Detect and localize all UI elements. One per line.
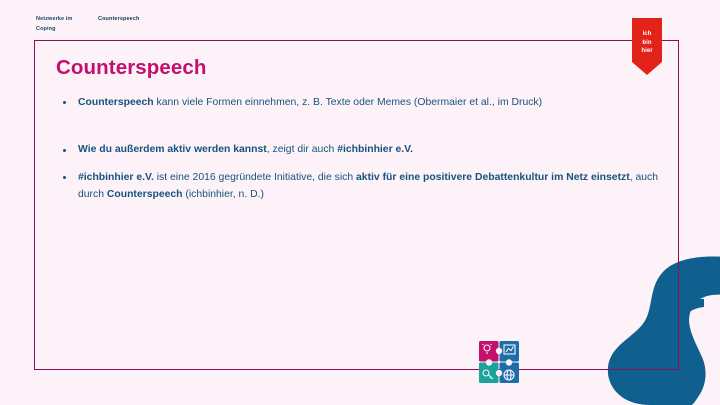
- ich-bin-hier-banner: ich bin hier: [632, 18, 662, 75]
- slide-content: Counterspeech Counterspeech kann viele F…: [34, 40, 679, 370]
- breadcrumb-section-label: Netzwerke im Coping: [36, 14, 82, 34]
- breadcrumb-topic-label: Counterspeech: [98, 14, 139, 24]
- slide: Netzwerke im Coping Counterspeech ich bi…: [0, 0, 720, 405]
- banner-text: ich bin hier: [632, 30, 662, 56]
- list-item: Counterspeech kann viele Formen einnehme…: [56, 94, 661, 112]
- page-title: Counterspeech: [56, 56, 661, 80]
- bullet-list: Counterspeech kann viele Formen einnehme…: [56, 94, 661, 204]
- list-item: Wie du außerdem aktiv werden kannst, zei…: [56, 141, 661, 159]
- list-item: #ichbinhier e.V. ist eine 2016 gegründet…: [56, 169, 661, 204]
- header-breadcrumb: Netzwerke im Coping Counterspeech: [36, 14, 139, 34]
- puzzle-logo: [478, 340, 520, 384]
